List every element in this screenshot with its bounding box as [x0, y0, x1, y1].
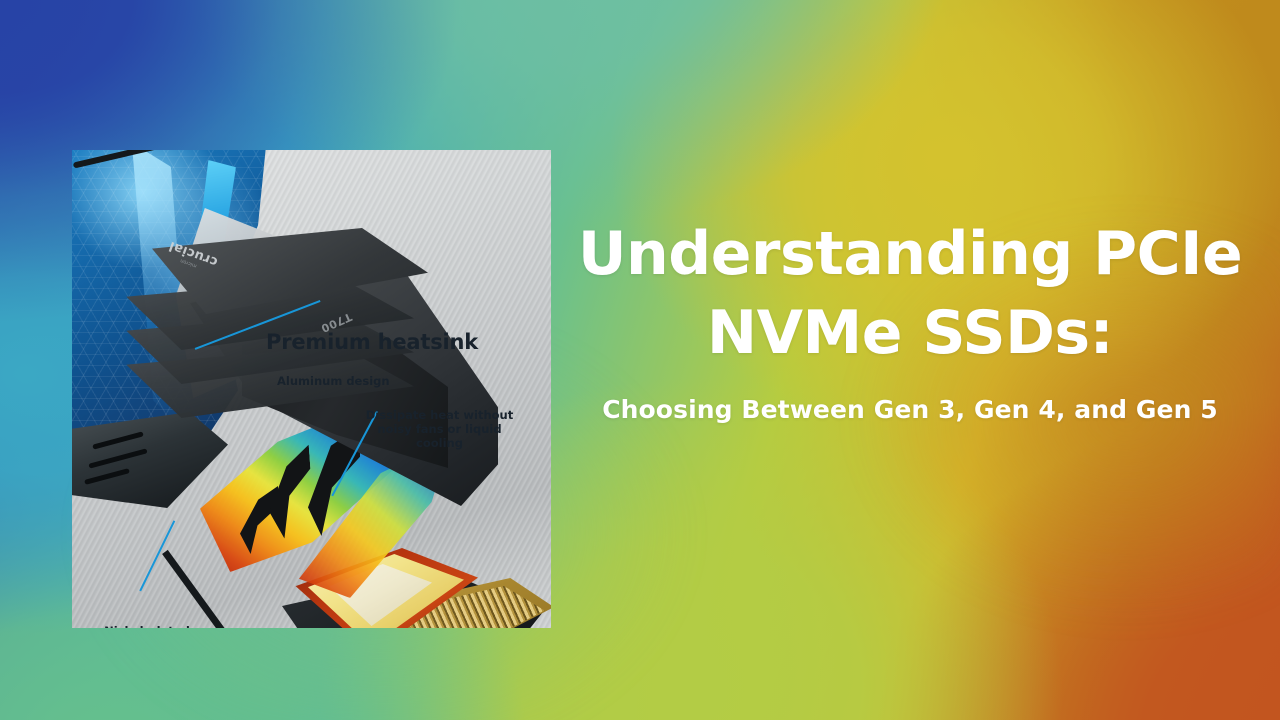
callout-nickel-plated-copper: Nickel-plated copper	[92, 624, 202, 628]
title-block: Understanding PCIe NVMe SSDs: Choosing B…	[560, 215, 1260, 426]
product-image: crucial micron T700 crucial T700 PCIe Ge…	[72, 150, 551, 628]
headline-line-1: Understanding PCIe	[560, 215, 1260, 294]
rig-vent-slot	[92, 431, 144, 449]
headline-line-2: NVMe SSDs:	[560, 294, 1260, 373]
page-subtitle: Choosing Between Gen 3, Gen 4, and Gen 5	[560, 394, 1260, 425]
premium-heatsink-heading: Premium heatsink	[266, 330, 478, 356]
rig-vent-slot	[88, 448, 147, 468]
rig-vent-slot	[84, 468, 130, 485]
callout-dissipate-heat: Dissipate heat without noisy fans or liq…	[357, 408, 522, 450]
callout-aluminum-design: Aluminum design	[277, 374, 390, 388]
page-title: Understanding PCIe NVMe SSDs:	[560, 215, 1260, 373]
